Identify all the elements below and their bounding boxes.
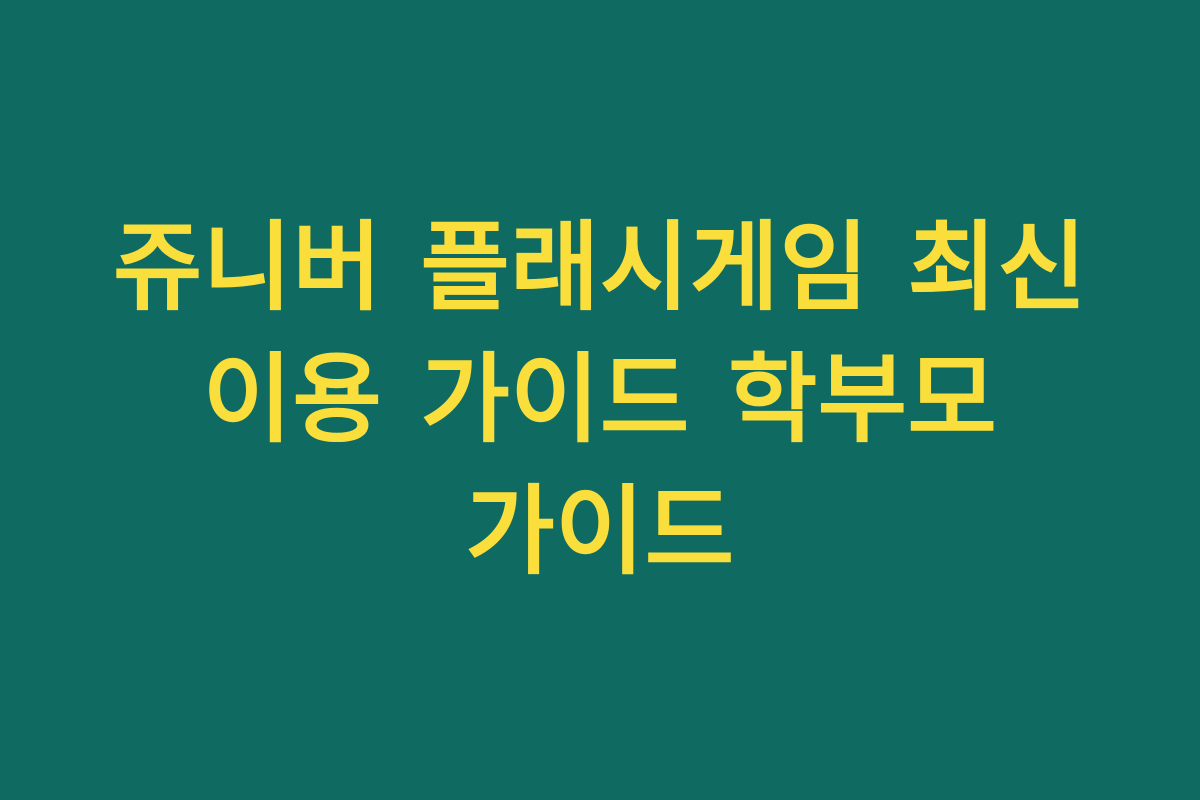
banner-title-block: 쥬니버 플래시게임 최신 이용 가이드 학부모 가이드: [85, 202, 1115, 598]
banner-background: 쥬니버 플래시게임 최신 이용 가이드 학부모 가이드: [0, 0, 1200, 800]
banner-title: 쥬니버 플래시게임 최신 이용 가이드 학부모 가이드: [85, 202, 1115, 598]
